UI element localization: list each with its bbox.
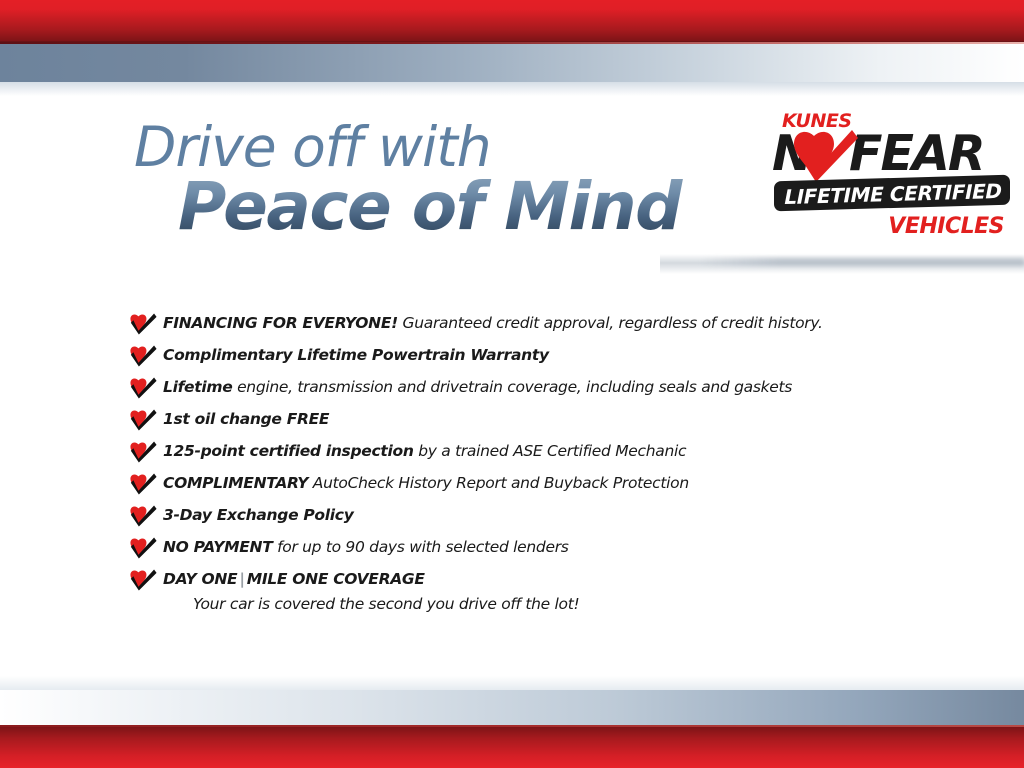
list-item-text: Complimentary Lifetime Powertrain Warran…	[163, 346, 549, 364]
list-item-bold: 3-Day Exchange Policy	[163, 506, 354, 524]
list-item-bold: 1st oil change FREE	[163, 410, 329, 428]
separator-pipe: |	[237, 570, 246, 588]
list-item: 3-Day Exchange Policy	[130, 502, 960, 534]
mile-one-label: MILE ONE COVERAGE	[247, 570, 425, 588]
top-gray-banner	[0, 44, 1024, 82]
logo-word-vehicles: VEHICLES	[888, 214, 1004, 239]
list-item-text: FINANCING FOR EVERYONE! Guaranteed credi…	[163, 314, 823, 332]
list-item: 125-point certified inspection by a trai…	[130, 438, 960, 470]
list-item-bold: NO PAYMENT	[163, 538, 272, 556]
heart-check-icon	[130, 313, 157, 335]
list-item-rest: engine, transmission and drivetrain cove…	[232, 378, 792, 396]
kunes-no-fear-logo: KUNES NFEAR LIFETIME CERTIFIED VEHICLES	[772, 110, 1012, 244]
list-item: Complimentary Lifetime Powertrain Warran…	[130, 342, 960, 374]
list-item-text: 3-Day Exchange Policy	[163, 506, 354, 524]
heart-check-icon	[130, 473, 157, 495]
list-item: 1st oil change FREE	[130, 406, 960, 438]
list-item: FINANCING FOR EVERYONE! Guaranteed credi…	[130, 310, 960, 342]
top-gray-fade	[0, 82, 1024, 96]
list-item-text: COMPLIMENTARY AutoCheck History Report a…	[163, 474, 689, 492]
heart-check-icon	[130, 345, 157, 367]
list-item-text: Lifetime engine, transmission and drivet…	[163, 378, 792, 396]
benefits-list: FINANCING FOR EVERYONE! Guaranteed credi…	[130, 310, 960, 618]
day-one-label: DAY ONE	[163, 570, 237, 588]
list-item-bold: Lifetime	[163, 378, 232, 396]
bottom-gray-fade	[0, 676, 1024, 690]
list-item-text: DAY ONE|MILE ONE COVERAGE	[163, 570, 425, 588]
heart-check-icon	[130, 505, 157, 527]
list-item: COMPLIMENTARY AutoCheck History Report a…	[130, 470, 960, 502]
list-item-subline: Your car is covered the second you drive…	[193, 592, 960, 616]
list-item-rest: Guaranteed credit approval, regardless o…	[398, 314, 823, 332]
heart-check-icon	[130, 441, 157, 463]
list-item-bold: COMPLIMENTARY	[163, 474, 308, 492]
list-item-text: NO PAYMENT for up to 90 days with select…	[163, 538, 569, 556]
heart-check-icon	[130, 569, 157, 591]
logo-divider-shadow-inner	[700, 258, 1024, 266]
heart-check-icon	[130, 537, 157, 559]
list-item-rest: for up to 90 days with selected lenders	[272, 538, 568, 556]
bottom-gray-banner	[0, 690, 1024, 725]
headline-line-2: Peace of Mind	[178, 172, 734, 242]
list-item-bold: FINANCING FOR EVERYONE!	[163, 314, 398, 332]
list-item-rest: AutoCheck History Report and Buyback Pro…	[308, 474, 689, 492]
list-item-rest: by a trained ASE Certified Mechanic	[414, 442, 687, 460]
heart-check-icon	[130, 409, 157, 431]
heart-check-icon	[130, 377, 157, 399]
top-red-banner	[0, 0, 1024, 42]
headline-block: Drive off with Peace of Mind	[134, 118, 734, 242]
heart-check-icon	[794, 130, 858, 182]
list-item: DAY ONE|MILE ONE COVERAGE Your car is co…	[130, 566, 960, 618]
list-item-bold: 125-point certified inspection	[163, 442, 414, 460]
logo-word-fear: FEAR	[849, 125, 984, 182]
list-item-text: 1st oil change FREE	[163, 410, 329, 428]
list-item-text: 125-point certified inspection by a trai…	[163, 442, 686, 460]
bottom-red-banner	[0, 727, 1024, 768]
list-item: NO PAYMENT for up to 90 days with select…	[130, 534, 960, 566]
flyer-page: Drive off with Peace of Mind KUNES NFEAR…	[0, 0, 1024, 768]
list-item-bold: Complimentary Lifetime Powertrain Warran…	[163, 346, 549, 364]
list-item: Lifetime engine, transmission and drivet…	[130, 374, 960, 406]
